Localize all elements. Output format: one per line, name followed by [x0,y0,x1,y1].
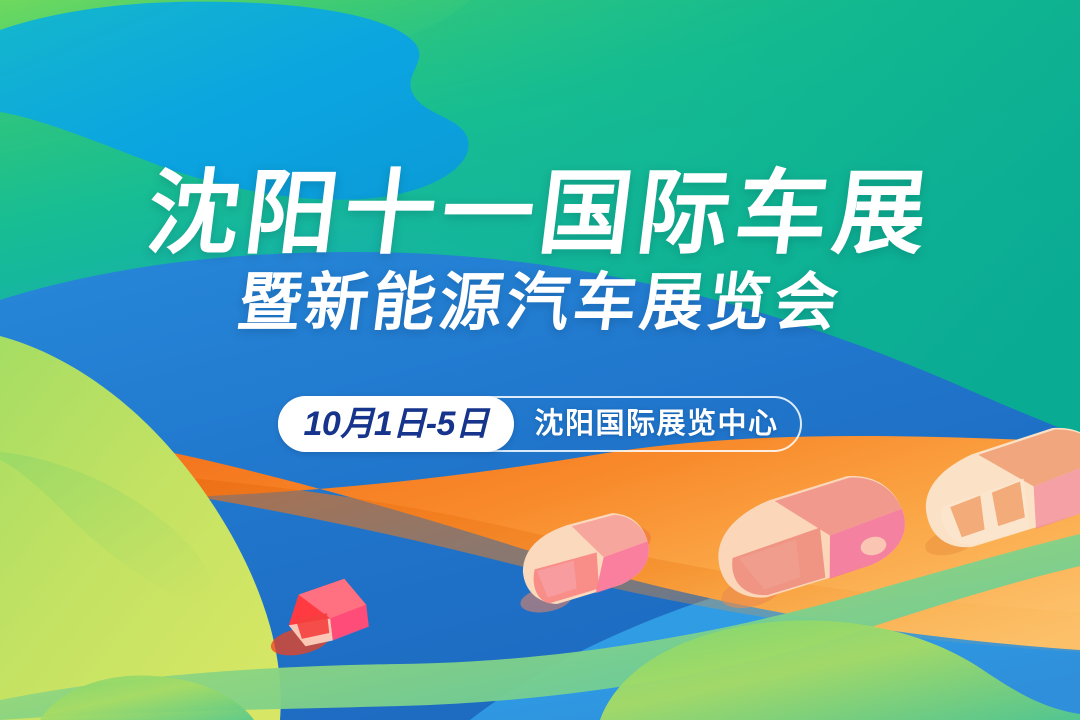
event-date: 10月1日-5日 [304,407,489,441]
poster-background-illustration [0,0,1080,720]
date-pill: 10月1日-5日 [278,396,515,452]
auto-show-poster: 沈阳十一国际车展 暨新能源汽车展览会 10月1日-5日 沈阳国际展览中心 [0,0,1080,720]
event-info-bar: 10月1日-5日 沈阳国际展览中心 [0,396,1080,452]
event-venue: 沈阳国际展览中心 [534,410,778,439]
date-venue-capsule: 10月1日-5日 沈阳国际展览中心 [278,396,803,452]
